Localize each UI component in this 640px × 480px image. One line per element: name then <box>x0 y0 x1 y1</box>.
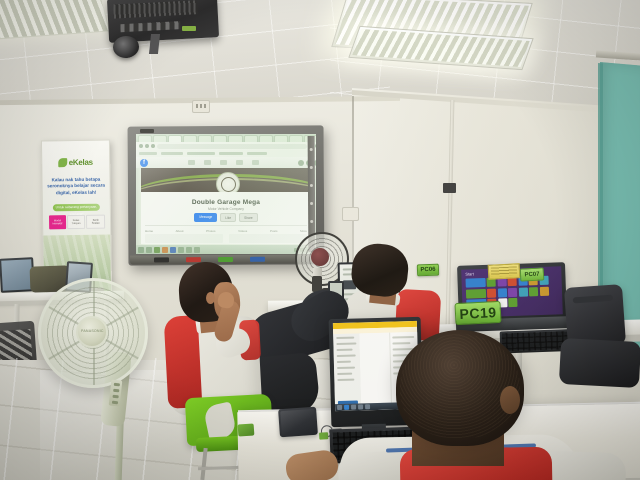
app-icon[interactable] <box>358 404 363 409</box>
app-icon[interactable] <box>186 247 192 253</box>
explorer-icon[interactable] <box>154 247 160 253</box>
start-screen-title: Start <box>465 271 474 276</box>
message-button[interactable]: Message <box>194 213 217 222</box>
facebook-top-nav[interactable]: f <box>136 157 316 168</box>
page-nav-tabs[interactable]: Home About Photos Videos Posts More <box>145 225 307 233</box>
ekelas-logo: eKelas <box>56 153 94 172</box>
avatar[interactable] <box>298 160 304 166</box>
app-icon[interactable] <box>178 247 184 253</box>
fan-hub-center <box>311 248 329 266</box>
forward-icon[interactable] <box>145 144 149 148</box>
pc-label-06-text: PC06 <box>420 265 435 275</box>
browser-address-bar[interactable] <box>136 142 316 150</box>
bookmark-item[interactable] <box>247 152 267 155</box>
facebook-cover-photo <box>141 168 311 192</box>
banner-headline: Kalau nak tahu betapa seronoknya belajar… <box>46 177 105 197</box>
windows-tile[interactable] <box>518 287 527 296</box>
windows-tile[interactable] <box>487 288 496 297</box>
browser-tab[interactable] <box>138 135 152 142</box>
browser-tab[interactable] <box>198 135 212 142</box>
pc-label-19-text: PC19 <box>459 303 497 323</box>
wall-socket-icon <box>192 100 210 113</box>
whiteboard-brand-plate <box>140 129 154 133</box>
windows-tile[interactable] <box>497 288 506 297</box>
wall-socket-icon-2 <box>342 207 359 221</box>
explorer-icon[interactable] <box>344 405 349 410</box>
page-tab-more[interactable]: More <box>300 229 307 233</box>
feed-card[interactable] <box>145 234 223 243</box>
browser-tab-strip[interactable] <box>136 134 316 142</box>
student-foreground-ear <box>500 386 520 414</box>
url-input[interactable] <box>157 144 307 149</box>
bezel-blue-button[interactable] <box>250 257 265 262</box>
browser-tab[interactable] <box>153 135 167 142</box>
browser-tab[interactable] <box>274 135 288 142</box>
page-tab-posts[interactable]: Posts <box>270 229 278 233</box>
app-icon[interactable] <box>365 404 370 409</box>
classroom-photo: eKelas Kalau nak tahu betapa seronoknya … <box>0 0 640 480</box>
pc-label-06: PC06 <box>417 264 439 277</box>
marketplace-icon[interactable] <box>220 160 227 165</box>
start-icon[interactable] <box>337 405 342 410</box>
bookmark-item[interactable] <box>161 152 183 155</box>
windows-tile[interactable] <box>529 287 538 296</box>
banner-chip: Modul Interaktif <box>49 215 66 229</box>
page-action-buttons[interactable]: Message Like Share <box>141 213 311 222</box>
banner-chip: Kelas Tuisyen <box>67 215 86 229</box>
pc-label-07-text: PC07 <box>524 269 540 280</box>
browser-tab[interactable] <box>213 135 227 142</box>
bezel-green-button[interactable] <box>218 257 233 262</box>
projector-indicator-light <box>182 26 196 31</box>
gaming-icon[interactable] <box>252 160 259 165</box>
share-button[interactable]: Share <box>239 213 258 222</box>
menu-icon[interactable] <box>315 144 316 148</box>
conduit-junction-box <box>443 183 456 193</box>
bezel-dot <box>310 148 313 151</box>
pc-label-19: PC19 <box>454 301 501 325</box>
page-tab-home[interactable]: Home <box>145 229 153 233</box>
groups-icon[interactable] <box>236 160 243 165</box>
page-tab-photos[interactable]: Photos <box>206 229 215 233</box>
page-feed-row <box>145 234 307 243</box>
feed-card[interactable] <box>229 234 307 243</box>
sticky-note <box>488 263 521 280</box>
bezel-red-button[interactable] <box>186 257 201 262</box>
app-icon[interactable] <box>351 405 356 410</box>
browser-tab[interactable] <box>244 135 258 142</box>
app-icon[interactable] <box>194 247 200 253</box>
logo-ring-icon <box>221 177 236 192</box>
back-icon[interactable] <box>139 144 143 148</box>
bookmarks-bar[interactable] <box>136 150 316 157</box>
student-foreground-shoulder-right <box>540 451 627 480</box>
home-icon[interactable] <box>188 160 195 165</box>
bezel-dot <box>310 166 313 169</box>
fan-brand-label: PANASONIC <box>81 329 103 333</box>
whiteboard-screen[interactable]: f Double Garage Mega Motor Ve <box>136 134 316 254</box>
fan-hub-left: PANASONIC <box>76 316 108 348</box>
page-profile-logo[interactable] <box>216 172 240 192</box>
green-desk-item <box>238 423 255 436</box>
facebook-page-body: Double Garage Mega Motor Vehicle Company… <box>141 192 311 244</box>
windows-tile[interactable] <box>508 287 517 296</box>
student-foreground-shoulder-left <box>337 450 408 480</box>
browser-tab[interactable] <box>228 135 242 142</box>
app-main-area[interactable] <box>359 333 391 411</box>
reload-icon[interactable] <box>151 144 155 148</box>
browser-icon[interactable] <box>162 247 168 253</box>
banner-chips: Modul Interaktif Kelas Tuisyen Bank Soal… <box>49 215 105 230</box>
word-icon[interactable] <box>170 247 176 253</box>
page-title: Double Garage Mega <box>141 199 311 206</box>
start-icon[interactable] <box>138 247 144 253</box>
pc-label-07: PC07 <box>520 267 545 281</box>
facebook-nav-icons[interactable] <box>151 160 295 165</box>
browser-tab[interactable] <box>289 135 303 142</box>
banner-chip: Bank Soalan <box>86 215 105 229</box>
student-foreground-hair-texture <box>400 334 520 438</box>
bezel-dot <box>310 184 313 187</box>
page-tab-videos[interactable]: Videos <box>238 229 247 233</box>
phone-on-desk[interactable] <box>278 407 318 438</box>
windows-taskbar[interactable] <box>136 245 316 254</box>
app-sidebar[interactable] <box>333 333 362 411</box>
browser-tab-active[interactable] <box>168 135 182 142</box>
windows-tile[interactable] <box>539 286 548 295</box>
browser-tab[interactable] <box>259 135 273 142</box>
bookmark-item[interactable] <box>219 152 243 155</box>
bezel-black-button[interactable] <box>154 257 169 262</box>
video-icon[interactable] <box>204 160 211 165</box>
bag-on-floor <box>559 338 640 388</box>
bezel-dot <box>310 202 313 205</box>
bookmark-item[interactable] <box>187 152 215 155</box>
browser-tab[interactable] <box>183 135 197 142</box>
student-seated-ear <box>206 292 215 304</box>
page-tab-about[interactable]: About <box>176 229 184 233</box>
windows-tile[interactable] <box>508 298 517 307</box>
banner-brand: eKelas <box>69 157 93 166</box>
like-button[interactable]: Like <box>220 213 236 222</box>
key-fob <box>319 432 328 439</box>
windows-tile[interactable] <box>466 288 486 298</box>
bezel-dot <box>310 220 313 223</box>
windows-tile[interactable] <box>466 278 486 288</box>
search-icon[interactable] <box>146 247 152 253</box>
banner-pill: Untuk sebarang pertanyaan, sila layari <box>53 204 100 212</box>
page-subtitle: Motor Vehicle Company <box>141 207 311 211</box>
bookmark-item[interactable] <box>139 152 157 155</box>
leaf-icon <box>58 158 67 167</box>
whiteboard-bottom-bezel[interactable] <box>130 254 322 264</box>
facebook-logo-icon[interactable]: f <box>140 159 148 167</box>
